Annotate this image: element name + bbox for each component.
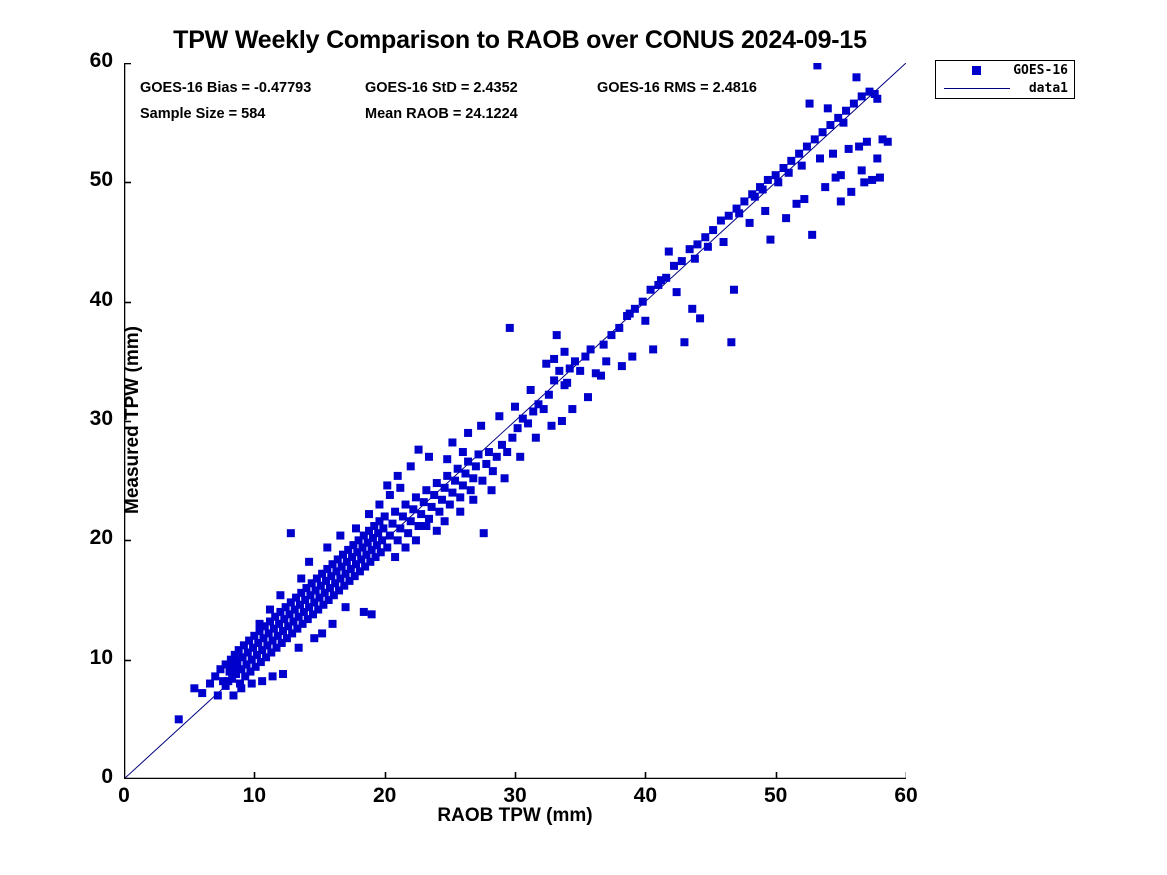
legend-square-marker-icon [972,66,981,75]
legend-entry-goes16: GOES-16 [936,62,1074,81]
stat-std: GOES-16 StD = 2.4352 [365,80,518,96]
x-axis-label: RAOB TPW (mm) [124,805,906,827]
y-tick-label: 20 [53,526,113,550]
y-axis-label: Measured TPW (mm) [122,62,144,778]
stat-mean-raob: Mean RAOB = 24.1224 [365,106,518,122]
page-title: TPW Weekly Comparison to RAOB over CONUS… [0,26,1040,55]
y-tick-label: 50 [53,168,113,192]
plot-area [124,63,906,779]
stat-rms: GOES-16 RMS = 2.4816 [597,80,757,96]
y-tick-label: 0 [53,765,113,789]
legend-label-data1: data1 [1029,81,1068,97]
scatter-points-group [175,63,892,723]
stat-sample-size: Sample Size = 584 [140,106,265,122]
chart-legend: GOES-16 data1 [935,60,1075,99]
legend-label-goes16: GOES-16 [1013,63,1068,79]
y-tick-label: 30 [53,407,113,431]
scatter-plot-svg [124,63,906,779]
y-tick-label: 40 [53,288,113,312]
legend-line-marker-icon [944,88,1010,89]
y-tick-label: 10 [53,646,113,670]
chart-figure: TPW Weekly Comparison to RAOB over CONUS… [0,0,1167,875]
legend-entry-data1: data1 [936,80,1074,99]
stat-bias: GOES-16 Bias = -0.47793 [140,80,311,96]
y-tick-label: 60 [53,49,113,73]
